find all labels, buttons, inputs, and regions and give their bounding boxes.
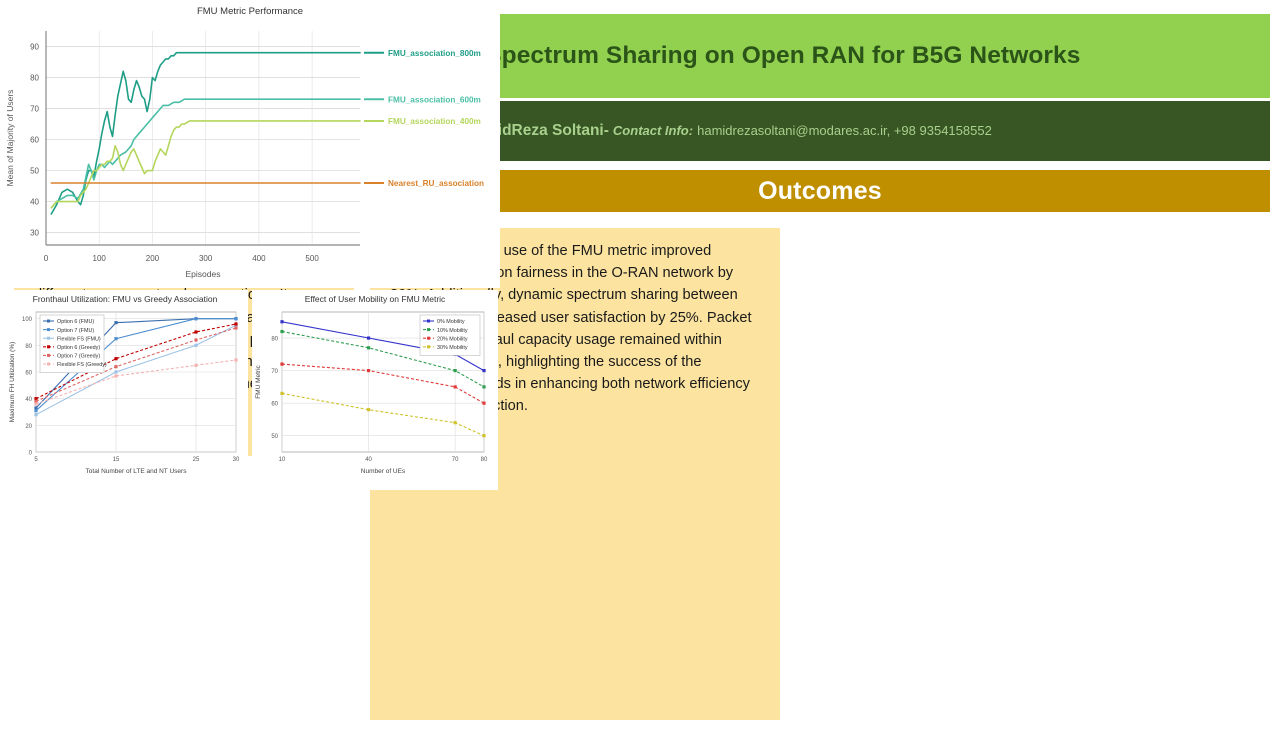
chart-br-svg: 5060708010407080Number of UEsFMU Metric0… [252, 304, 498, 490]
xtick-label: 500 [305, 254, 319, 263]
series-marker [367, 346, 370, 349]
series-marker [280, 392, 283, 395]
series-marker [114, 365, 117, 368]
series-marker [367, 369, 370, 372]
chart-user-mobility-effect: Effect of User Mobility on FMU Metric 50… [252, 290, 498, 490]
legend-label-Option 6 (Greedy): Option 6 (Greedy) [57, 345, 100, 351]
legend-label-Option 7 (FMU): Option 7 (FMU) [57, 328, 94, 334]
legend-label-10% Mobility: 10% Mobility [437, 328, 468, 334]
ytick-label: 70 [30, 105, 39, 114]
ytick-label: 80 [25, 344, 32, 350]
outcomes-heading: Outcomes [758, 177, 882, 206]
series-marker [482, 402, 485, 405]
legend-label-FMU_association_400m: FMU_association_400m [388, 117, 481, 126]
series-marker [194, 344, 197, 347]
legend-label-Option 7 (Greedy): Option 7 (Greedy) [57, 354, 100, 360]
series-marker [114, 337, 117, 340]
series-marker [234, 358, 237, 361]
xtick-label: 80 [481, 457, 488, 463]
legend-label-Flexible FS (Greedy): Flexible FS (Greedy) [57, 362, 107, 368]
chart-bl-title: Fronthaul Utilization: FMU vs Greedy Ass… [2, 290, 248, 304]
contact-info-label: Contact Info: [613, 123, 693, 138]
xtick-label: 200 [146, 254, 160, 263]
legend-marker [427, 337, 430, 340]
series-marker [34, 409, 37, 412]
outcomes-section-header: Outcomes [370, 170, 1270, 212]
ytick-label: 70 [271, 369, 278, 375]
ytick-label: 50 [271, 434, 278, 440]
xtick-label: 30 [233, 457, 240, 463]
series-marker [34, 402, 37, 405]
ytick-label: 60 [30, 136, 39, 145]
legend-marker [427, 345, 430, 348]
xtick-label: 10 [279, 457, 286, 463]
series-marker [454, 385, 457, 388]
series-marker [34, 413, 37, 416]
series-marker [194, 317, 197, 320]
xtick-label: 40 [365, 457, 372, 463]
ytick-label: 40 [25, 397, 32, 403]
ytick-label: 60 [25, 371, 32, 377]
series-marker [482, 385, 485, 388]
x-axis-label: Total Number of LTE and NT Users [86, 468, 188, 475]
series-marker [114, 370, 117, 373]
legend-label-20% Mobility: 20% Mobility [437, 336, 468, 342]
series-marker [454, 421, 457, 424]
x-axis-label: Number of UEs [361, 468, 406, 475]
ytick-label: 60 [271, 402, 278, 408]
legend-label-Flexible FS (FMU): Flexible FS (FMU) [57, 336, 101, 342]
chart-br-title: Effect of User Mobility on FMU Metric [252, 290, 498, 304]
series-marker [234, 322, 237, 325]
series-marker [482, 434, 485, 437]
xtick-label: 25 [193, 457, 200, 463]
series-marker [280, 320, 283, 323]
legend-label-FMU_association_600m: FMU_association_600m [388, 95, 481, 104]
ytick-label: 50 [30, 167, 39, 176]
xtick-label: 15 [113, 457, 120, 463]
xtick-label: 5 [34, 457, 38, 463]
y-axis-label: FMU Metric [255, 364, 262, 398]
legend-label-0% Mobility: 0% Mobility [437, 319, 465, 325]
legend-marker [47, 345, 50, 348]
chart-fronthaul-utilization: Fronthaul Utilization: FMU vs Greedy Ass… [2, 290, 248, 490]
chart-main-svg: 304050607080900100200300400500EpisodesMe… [0, 17, 500, 285]
series-marker [280, 362, 283, 365]
series-marker [367, 408, 370, 411]
legend-marker [47, 320, 50, 323]
ytick-label: 80 [271, 337, 278, 343]
legend-marker [47, 363, 50, 366]
ytick-label: 30 [30, 229, 39, 238]
ytick-label: 40 [30, 198, 39, 207]
legend-label-Nearest_RU_association: Nearest_RU_association [388, 179, 484, 188]
contact-line: HamidReza Soltani- Contact Info: hamidre… [464, 122, 992, 140]
series-marker [194, 338, 197, 341]
xtick-label: 70 [452, 457, 459, 463]
ytick-label: 90 [30, 43, 39, 52]
legend-marker [47, 337, 50, 340]
chart-fmu-metric-performance: FMU Metric Performance 30405060708090010… [0, 0, 500, 288]
ytick-label: 0 [29, 451, 33, 457]
series-marker [234, 326, 237, 329]
ytick-label: 100 [22, 317, 33, 323]
xtick-label: 100 [93, 254, 107, 263]
series-marker [114, 321, 117, 324]
legend-marker [427, 328, 430, 331]
series-marker [234, 317, 237, 320]
xtick-label: 0 [44, 254, 49, 263]
chart-bl-svg: 0204060801005152530Total Number of LTE a… [2, 304, 248, 490]
ytick-label: 80 [30, 74, 39, 83]
series-marker [114, 357, 117, 360]
ytick-label: 20 [25, 424, 32, 430]
series-marker [194, 364, 197, 367]
series-marker [194, 330, 197, 333]
legend-label-30% Mobility: 30% Mobility [437, 345, 468, 351]
legend-marker [47, 328, 50, 331]
legend-label-Option 6 (FMU): Option 6 (FMU) [57, 319, 94, 325]
series-marker [482, 369, 485, 372]
series-marker [114, 374, 117, 377]
series-marker [280, 330, 283, 333]
contact-info-value: hamidrezasoltani@modares.ac.ir, +98 9354… [697, 123, 992, 138]
y-axis-label: Maximum FH Utilization (%) [9, 342, 16, 423]
chart-main-title: FMU Metric Performance [0, 0, 500, 17]
series-marker [454, 369, 457, 372]
xtick-label: 300 [199, 254, 213, 263]
legend-marker [47, 354, 50, 357]
x-axis-label: Episodes [186, 269, 221, 279]
xtick-label: 400 [252, 254, 266, 263]
series-marker [367, 336, 370, 339]
legend-marker [427, 320, 430, 323]
y-axis-label: Mean of Majority of Users [5, 90, 15, 187]
legend-label-FMU_association_800m: FMU_association_800m [388, 49, 481, 58]
